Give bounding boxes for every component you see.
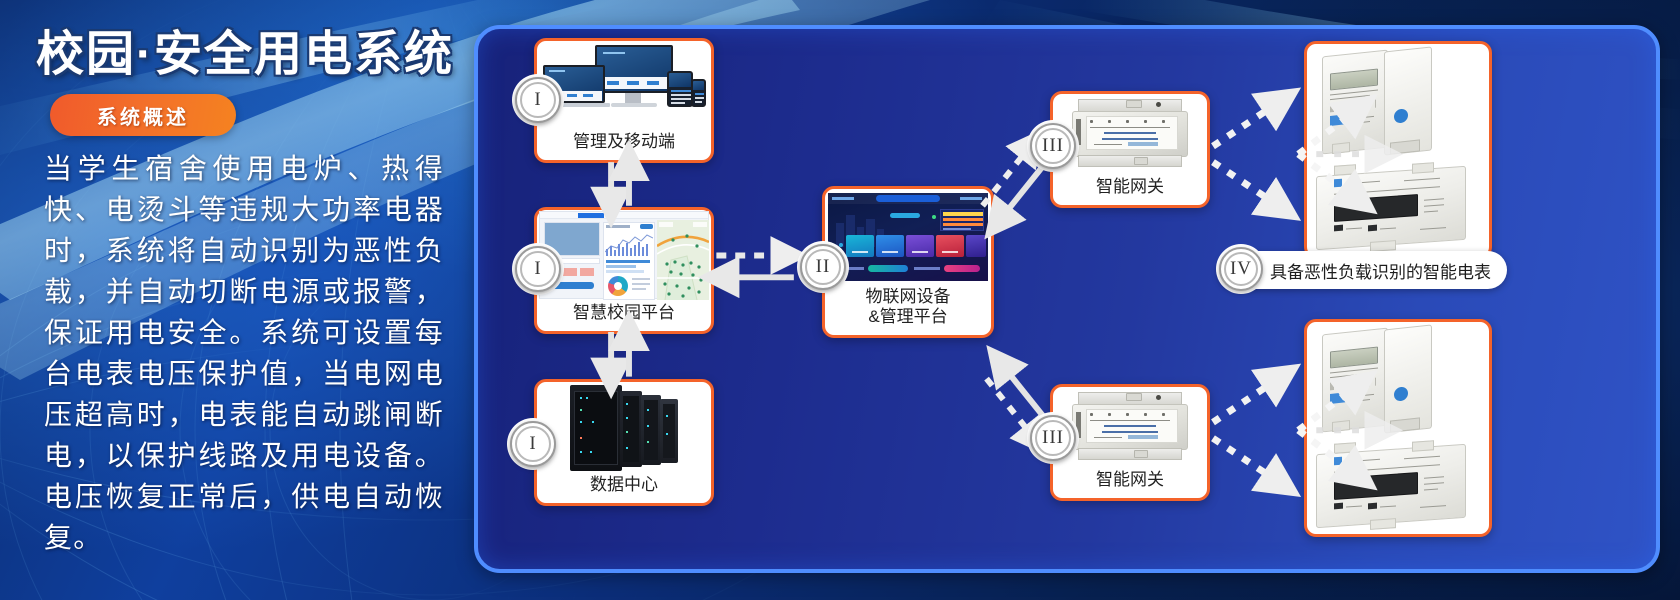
node-smart-campus[interactable]: 智慧校园平台 (534, 207, 714, 334)
monitor-screen (595, 45, 673, 93)
server-rack-image (537, 382, 711, 472)
connector-admin-to-campus (611, 162, 629, 206)
meter-callout-label: 具备恶性负载识别的智能电表 (1270, 258, 1491, 283)
overview-description: 当学生宿舍使用电炉、热得快、电烫斗等违规大功率电器时，系统将自动识别为恶性负载，… (44, 148, 444, 558)
iot-tile (936, 235, 964, 257)
iot-tile (966, 235, 986, 257)
intro-panel: 校园·安全用电系统 系统概述 当学生宿舍使用电炉、热得快、电烫斗等违规大功率电器… (0, 0, 470, 600)
numeral-badge-smart-campus: I (515, 246, 561, 292)
campus-dashboard-image (537, 210, 711, 300)
node-iot-platform-label-line2: &管理平台 (829, 307, 987, 327)
connector-gateway-bottom-to-meters (1213, 379, 1279, 482)
numeral-badge-iot-platform: II (800, 244, 846, 290)
smart-gateway-image (1053, 94, 1207, 174)
server-rack (570, 385, 622, 471)
node-meters-bottom[interactable] (1304, 319, 1492, 537)
iot-dashboard-image (825, 189, 991, 285)
connector-campus-to-iot (716, 255, 793, 277)
iot-tile (846, 235, 874, 257)
iot-tile (876, 235, 904, 257)
node-data-center-label: 数据中心 (537, 472, 711, 503)
node-admin-mobile-label: 管理及移动端 (537, 129, 711, 160)
connector-gateway-top-to-meters (1213, 103, 1279, 206)
node-iot-platform[interactable]: 物联网设备 &管理平台 (822, 186, 994, 338)
node-smart-campus-label: 智慧校园平台 (537, 300, 711, 331)
page-title: 校园·安全用电系统 (36, 14, 454, 84)
node-meters-top[interactable] (1304, 41, 1492, 259)
iot-tile (906, 235, 934, 257)
smart-meters-image (1307, 44, 1489, 256)
phone-screen (691, 79, 706, 107)
meter-callout-pill[interactable]: IV 具备恶性负载识别的智能电表 (1218, 251, 1507, 289)
numeral-badge-gateway-top: III (1030, 123, 1076, 169)
node-gateway-bottom-label: 智能网关 (1053, 467, 1207, 498)
node-iot-platform-label: 物联网设备 &管理平台 (825, 285, 991, 335)
numeral-badge-admin-mobile: I (515, 77, 561, 123)
section-badge-label: 系统概述 (97, 101, 189, 130)
smart-meters-image (1307, 322, 1489, 534)
node-admin-mobile[interactable]: 管理及移动端 (534, 38, 714, 163)
campus-map (657, 220, 709, 300)
node-iot-platform-label-line1: 物联网设备 (829, 287, 987, 307)
architecture-diagram: 管理及移动端 I (474, 25, 1660, 573)
smart-gateway-image (1053, 387, 1207, 467)
tablet-screen (667, 71, 693, 107)
devices-cluster-image (537, 41, 711, 129)
node-data-center[interactable]: 数据中心 (534, 379, 714, 506)
section-badge: 系统概述 (50, 94, 236, 136)
numeral-badge-meters: IV (1219, 247, 1263, 291)
connector-campus-to-datacenter (611, 332, 629, 377)
numeral-badge-gateway-bottom: III (1030, 415, 1076, 461)
node-gateway-top-label: 智能网关 (1053, 174, 1207, 205)
numeral-badge-data-center: I (510, 421, 556, 467)
